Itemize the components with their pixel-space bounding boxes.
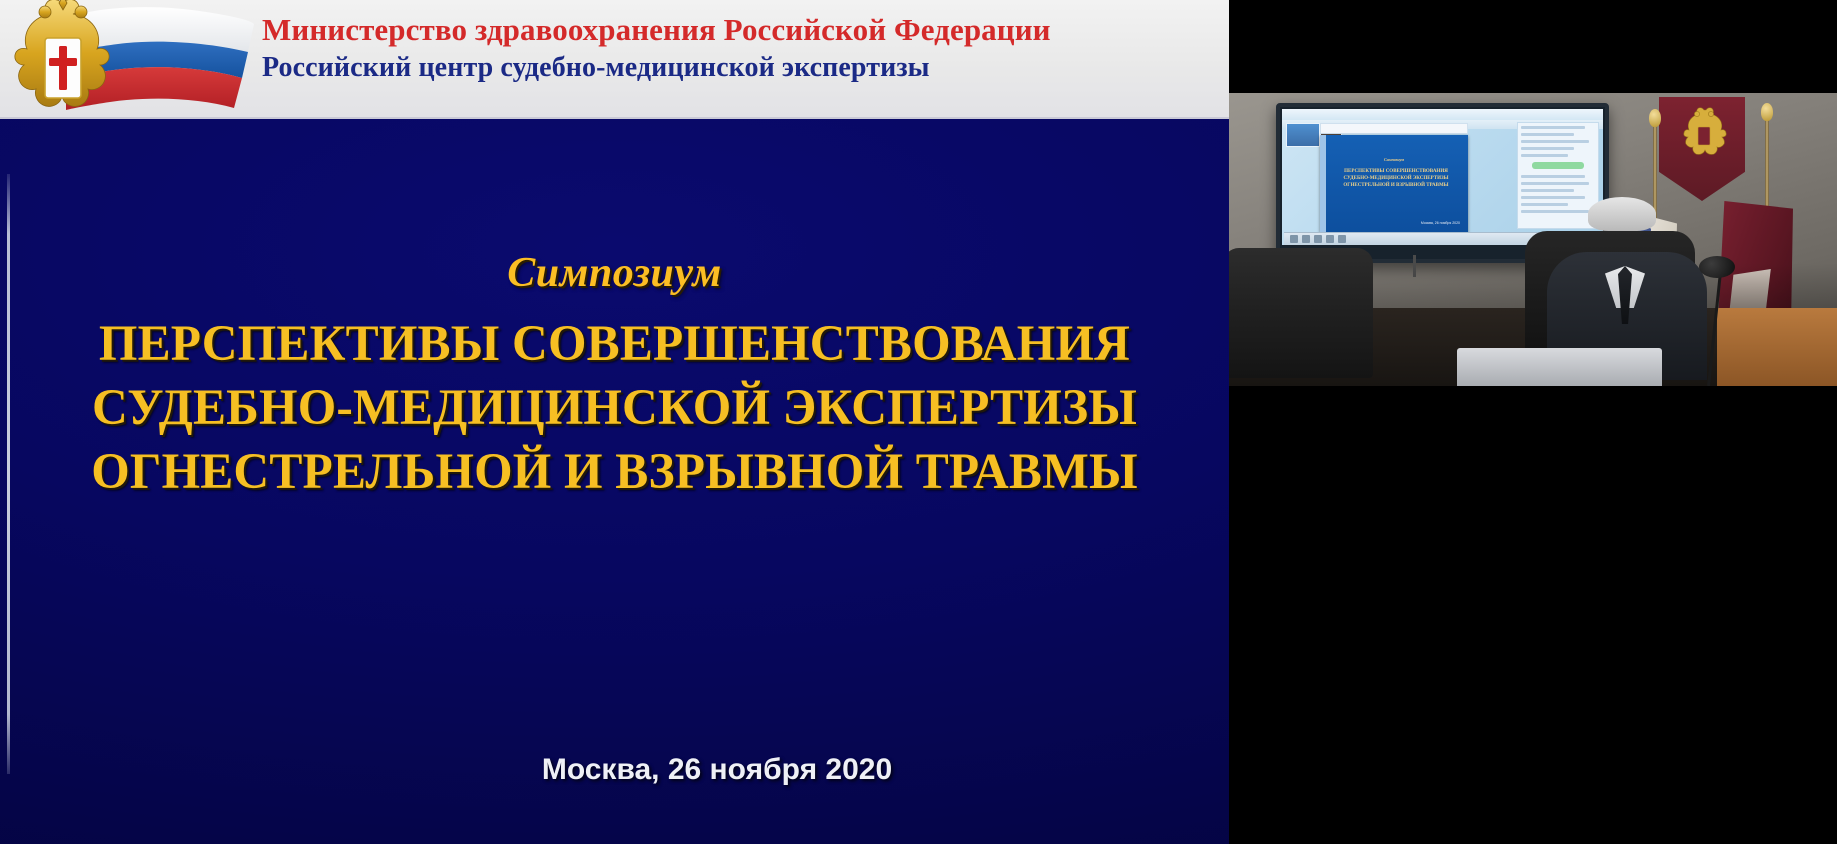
center-name: Российский центр судебно-медицинской экс…	[262, 51, 1229, 85]
list-item	[1521, 210, 1589, 213]
ministry-logo	[4, 0, 254, 119]
board-slide-header	[1320, 123, 1468, 134]
slide-kicker: Симпозиум	[0, 249, 1229, 297]
taskbar-icon	[1290, 235, 1298, 243]
list-item	[1521, 147, 1574, 150]
slide-title: ПЕРСПЕКТИВЫ СОВЕРШЕНСТВОВАНИЯ СУДЕБНО-МЕ…	[0, 312, 1229, 504]
board-slide: Симпозиум ПЕРСПЕКТИВЫ СОВЕРШЕНСТВОВАНИЯ …	[1320, 135, 1468, 233]
microphone-head	[1699, 256, 1735, 278]
wall-eagle-icon	[1681, 107, 1727, 161]
board-slide-title-1: ПЕРСПЕКТИВЫ СОВЕРШЕНСТВОВАНИЯ	[1326, 168, 1466, 175]
slide-body: Симпозиум ПЕРСПЕКТИВЫ СОВЕРШЕНСТВОВАНИЯ …	[0, 119, 1229, 844]
list-item	[1521, 133, 1574, 136]
taskbar-icon	[1338, 235, 1346, 243]
list-item	[1521, 154, 1568, 157]
presentation-slide: Министерство здравоохранения Российской …	[0, 0, 1229, 844]
chair-left	[1229, 248, 1373, 378]
letterbox-top	[1229, 0, 1837, 93]
letterbox-bottom	[1229, 386, 1837, 844]
slide-title-line-3: ОГНЕСТРЕЛЬНОЙ И ВЗРЫВНОЙ ТРАВМЫ	[18, 440, 1210, 504]
board-join-button	[1532, 162, 1584, 169]
board-slide-date: Москва, 26 ноября 2020	[1421, 221, 1460, 225]
slide-dateline: Москва, 26 ноября 2020	[0, 753, 1229, 787]
board-participant-list	[1517, 122, 1599, 229]
list-item	[1521, 182, 1589, 185]
list-item	[1521, 175, 1585, 178]
laptop	[1457, 348, 1662, 386]
slide-header-band: Министерство здравоохранения Российской …	[0, 0, 1229, 119]
list-item	[1521, 140, 1589, 143]
taskbar-icon	[1302, 235, 1310, 243]
russian-federation-eagle-emblem	[4, 0, 122, 119]
video-frame[interactable]: Симпозиум ПЕРСПЕКТИВЫ СОВЕРШЕНСТВОВАНИЯ …	[1229, 93, 1837, 386]
slide-title-line-2: СУДЕБНО-МЕДИЦИНСКОЙ ЭКСПЕРТИЗЫ	[18, 376, 1210, 440]
slide-title-line-1: ПЕРСПЕКТИВЫ СОВЕРШЕНСТВОВАНИЯ	[18, 312, 1210, 376]
speaker-hair	[1588, 197, 1656, 231]
flagpole-finial-left	[1649, 109, 1661, 127]
ministry-titles: Министерство здравоохранения Российской …	[262, 12, 1229, 84]
list-item	[1521, 189, 1574, 192]
board-screen: Симпозиум ПЕРСПЕКТИВЫ СОВЕРШЕНСТВОВАНИЯ …	[1282, 109, 1603, 245]
list-item	[1521, 126, 1585, 129]
desk-wood-panel	[1717, 308, 1837, 386]
video-pane[interactable]: Симпозиум ПЕРСПЕКТИВЫ СОВЕРШЕНСТВОВАНИЯ …	[1229, 0, 1837, 844]
taskbar-icon	[1314, 235, 1322, 243]
board-slide-kicker: Симпозиум	[1320, 157, 1468, 162]
broadcast-stage: Министерство здравоохранения Российской …	[0, 0, 1837, 844]
taskbar-icon	[1326, 235, 1334, 243]
board-participant-thumb-1	[1286, 123, 1320, 147]
board-slide-title-3: ОГНЕСТРЕЛЬНОЙ И ВЗРЫВНОЙ ТРАВМЫ	[1326, 182, 1466, 189]
flagpole-finial-right	[1761, 103, 1773, 121]
ministry-name: Министерство здравоохранения Российской …	[262, 12, 1229, 49]
list-item	[1521, 203, 1568, 206]
board-slide-title-2: СУДЕБНО-МЕДИЦИНСКОЙ ЭКСПЕРТИЗЫ	[1326, 175, 1466, 182]
list-item	[1521, 196, 1585, 199]
